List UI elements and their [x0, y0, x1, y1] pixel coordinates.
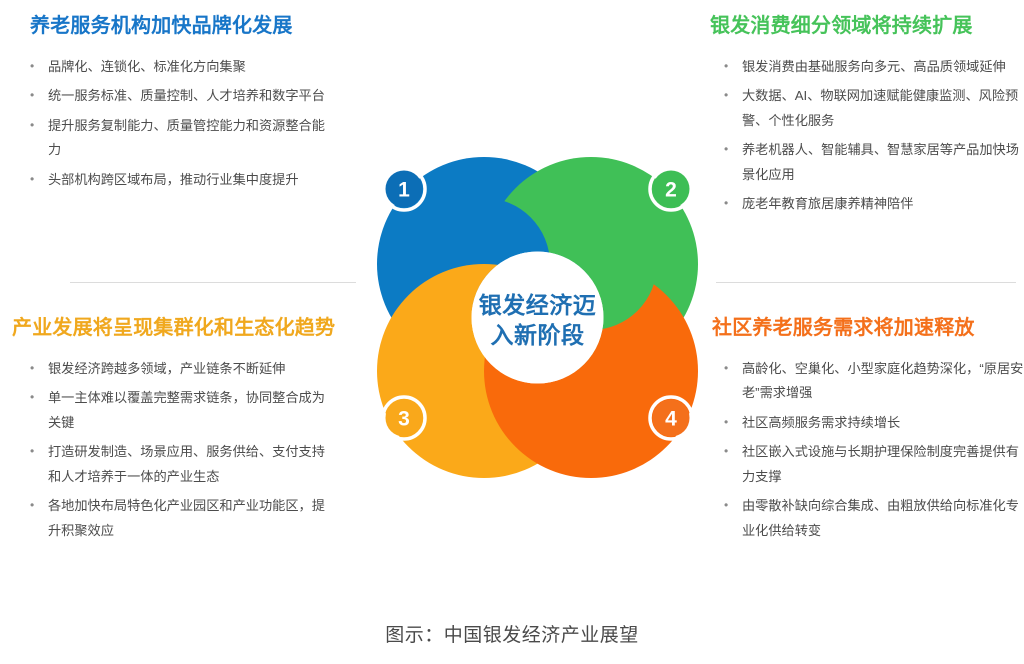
panel-top-left: 养老服务机构加快品牌化发展 品牌化、连锁化、标准化方向集聚 统一服务标准、质量控…: [8, 14, 338, 197]
badge-4-number: 4: [665, 408, 677, 431]
list-item: 银发消费由基础服务向多元、高品质领域延伸: [700, 55, 1024, 79]
panel-bottom-left-bullets: 银发经济跨越多领域，产业链条不断延伸 单一主体难以覆盖完整需求链条，协同整合成为…: [8, 357, 338, 543]
list-item: 统一服务标准、质量控制、人才培养和数字平台: [8, 84, 338, 108]
panel-bottom-left: 产业发展将呈现集群化和生态化趋势 银发经济跨越多领域，产业链条不断延伸 单一主体…: [8, 316, 338, 548]
badge-1-number: 1: [398, 179, 410, 202]
divider-left: [70, 282, 356, 283]
panel-top-right: 银发消费细分领域将持续扩展 银发消费由基础服务向多元、高品质领域延伸 大数据、A…: [700, 14, 1024, 222]
badge-2-number: 2: [665, 179, 677, 202]
list-item: 社区嵌入式设施与长期护理保险制度完善提供有力支撑: [700, 440, 1024, 489]
infographic-page: 养老服务机构加快品牌化发展 品牌化、连锁化、标准化方向集聚 统一服务标准、质量控…: [0, 0, 1024, 664]
hub-label-line-2: 入新阶段: [491, 322, 585, 348]
list-item: 单一主体难以覆盖完整需求链条，协同整合成为关键: [8, 386, 338, 435]
figure-caption: 图示：中国银发经济产业展望: [0, 620, 1024, 647]
pinwheel-diagram: 银发经济迈 入新阶段 1 2 3 4: [365, 145, 710, 490]
list-item: 提升服务复制能力、质量管控能力和资源整合能力: [8, 114, 338, 163]
list-item: 养老机器人、智能辅具、智慧家居等产品加快场景化应用: [700, 138, 1024, 187]
panel-bottom-right-bullets: 高龄化、空巢化、小型家庭化趋势深化，“原居安老”需求增强 社区高频服务需求持续增…: [700, 357, 1024, 543]
panel-bottom-right: 社区养老服务需求将加速释放 高龄化、空巢化、小型家庭化趋势深化，“原居安老”需求…: [700, 316, 1024, 548]
badge-4[interactable]: 4: [650, 397, 692, 439]
badge-1[interactable]: 1: [383, 168, 425, 210]
list-item: 银发经济跨越多领域，产业链条不断延伸: [8, 357, 338, 381]
badge-3-number: 3: [398, 408, 410, 431]
panel-top-right-title: 银发消费细分领域将持续扩展: [700, 14, 1024, 39]
list-item: 大数据、AI、物联网加速赋能健康监测、风险预警、个性化服务: [700, 84, 1024, 133]
list-item: 庞老年教育旅居康养精神陪伴: [700, 192, 1024, 216]
list-item: 由零散补缺向综合集成、由粗放供给向标准化专业化供给转变: [700, 494, 1024, 543]
hub-label-line-1: 银发经济迈: [479, 292, 597, 318]
list-item: 各地加快布局特色化产业园区和产业功能区，提升积聚效应: [8, 494, 338, 543]
list-item: 社区高频服务需求持续增长: [700, 411, 1024, 435]
badge-2[interactable]: 2: [650, 168, 692, 210]
panel-top-left-bullets: 品牌化、连锁化、标准化方向集聚 统一服务标准、质量控制、人才培养和数字平台 提升…: [8, 55, 338, 192]
panel-top-left-title: 养老服务机构加快品牌化发展: [8, 14, 338, 39]
list-item: 高龄化、空巢化、小型家庭化趋势深化，“原居安老”需求增强: [700, 357, 1024, 406]
badge-3[interactable]: 3: [383, 397, 425, 439]
list-item: 打造研发制造、场景应用、服务供给、支付支持和人才培养于一体的产业生态: [8, 440, 338, 489]
panel-bottom-left-title: 产业发展将呈现集群化和生态化趋势: [8, 316, 338, 341]
panel-bottom-right-title: 社区养老服务需求将加速释放: [700, 316, 1024, 341]
list-item: 头部机构跨区域布局，推动行业集中度提升: [8, 168, 338, 192]
divider-right: [716, 282, 1016, 283]
list-item: 品牌化、连锁化、标准化方向集聚: [8, 55, 338, 79]
panel-top-right-bullets: 银发消费由基础服务向多元、高品质领域延伸 大数据、AI、物联网加速赋能健康监测、…: [700, 55, 1024, 217]
